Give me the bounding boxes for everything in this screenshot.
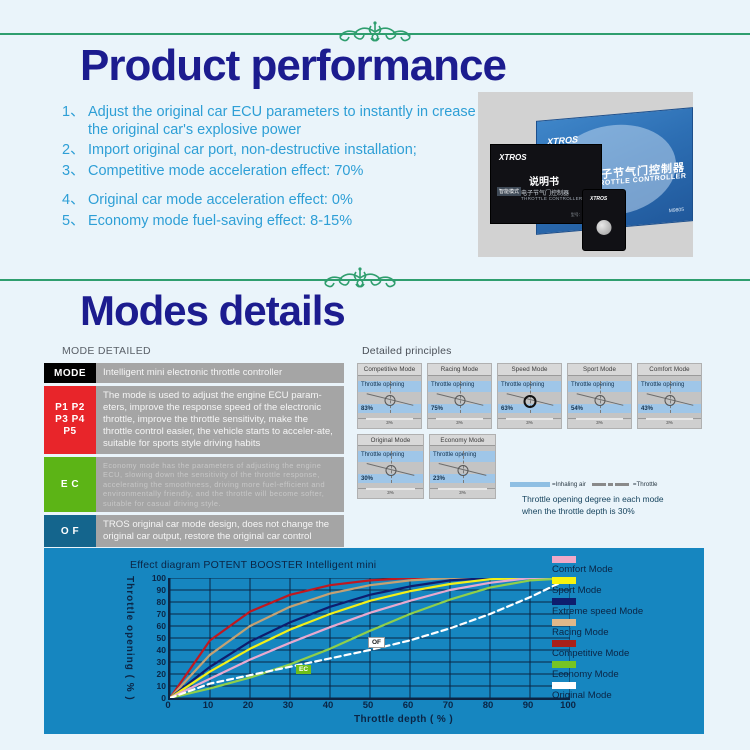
p-line-2: P3 P4 [55,414,85,426]
chart-annotation-of: OF [368,637,385,648]
chart-legend-item: Extreme speed Mode [552,598,702,617]
chart-legend-item: Competitive Mode [552,640,702,659]
mode-card-foot: 3% [358,488,423,498]
throttle-opening-label: Throttle opening [641,382,684,388]
mode-detailed-caption: MODE DETAILED [62,345,151,357]
mode-card-foot-value: 3% [666,420,673,425]
valve-icon [594,395,605,406]
valve-icon [457,465,468,476]
mode-card: Racing Mode Throttle opening 75% 3% [427,363,492,429]
table-row: O F TROS original car mode design, does … [44,515,344,547]
device-brand-label: XTROS [590,196,607,202]
chart-legend-swatch [552,598,576,605]
mode-card-foot-value: 3% [459,490,466,495]
chart-legend-swatch [552,577,576,584]
device-knob-icon [597,220,612,235]
throttle-opening-label: Throttle opening [361,382,404,388]
manual-tag: 智能模式 [497,187,521,196]
product-photo: XTROS 电子节气门控制器 THROTTLE CONTROLLER M9805… [478,92,693,257]
chart-legend-swatch [552,640,576,647]
throttle-legend-label: =Throttle [633,481,658,488]
chart-x-tick: 60 [403,700,414,711]
list-item: 2、 Import original car port, non-destruc… [62,142,482,160]
chart-y-tick: 80 [157,597,166,607]
row-value: TROS original car mode design, does not … [96,515,344,547]
infographic-page: Product performance 1、 Adjust the origin… [0,0,750,750]
mode-card-foot: 3% [498,418,561,428]
row-key-p-modes: P1 P2 P3 P4 P5 [44,386,96,454]
chart-legend-label: Sport Mode [552,585,702,596]
mode-card-foot: 3% [568,418,631,428]
chart-legend-item: Economy Mode [552,661,702,680]
mode-card-percent: 63% [501,406,513,412]
mode-card-foot-value: 3% [387,490,394,495]
chart-x-tick: 70 [443,700,454,711]
chart-y-tick: 90 [157,585,166,595]
p-line-3: P5 [63,426,76,438]
valve-icon [664,395,675,406]
chart-legend-item: Sport Mode [552,577,702,596]
mode-card-title: Original Mode [358,435,423,447]
chart-legend-swatch [552,556,576,563]
throttle-opening-label: Throttle opening [361,452,404,458]
row-value: Economy mode has the parameters of adjus… [96,457,344,512]
row-value: The mode is used to adjust the engine EC… [96,386,344,454]
mode-card-percent: 83% [361,406,373,412]
manual-subtitle-en: THROTTLE CONTROLLER [521,196,582,201]
page-title-modes-details: Modes details [80,287,345,335]
mode-card-foot-value: 3% [456,420,463,425]
mode-card-title: Racing Mode [428,364,491,376]
row-key-of: O F [44,515,96,547]
list-item-number: 3、 [62,163,88,181]
list-item-number: 1、 [62,104,88,139]
principle-caption: Throttle opening degree in each mode whe… [522,493,664,517]
chart-x-tick: 50 [363,700,374,711]
principle-legend-row: =Inhaling air =Throttle [510,481,710,488]
mode-card-body: Throttle opening 63% [498,376,561,418]
mode-card: Economy Mode Throttle opening 23% 3% [429,434,496,500]
throttle-opening-label: Throttle opening [571,382,614,388]
chart-y-tick: 20 [157,669,166,679]
chart-x-tick: 90 [523,700,534,711]
table-row: P1 P2 P3 P4 P5 The mode is used to adjus… [44,386,344,454]
modes-table: MODE Intelligent mini electronic throttl… [44,363,344,550]
chart-legend-swatch [552,661,576,668]
mode-card-title: Speed Mode [498,364,561,376]
throttle-controller-device: XTROS [582,189,626,251]
product-performance-list: 1、 Adjust the original car ECU parameter… [62,104,482,233]
chart-y-ticks: 1009080706050403020100 [140,572,166,704]
list-item-text: Competitive mode acceleration effect: 70… [88,163,482,181]
principle-caption-line-1: Throttle opening degree in each mode [522,493,664,505]
list-item-number: 4、 [62,192,88,210]
list-item-number: 5、 [62,213,88,231]
principle-cards-row-1: Competitive Mode Throttle opening 83% 3%… [357,363,702,429]
mode-card-body: Throttle opening 83% [358,376,421,418]
mode-card-foot: 3% [358,418,421,428]
mode-card-body: Throttle opening 75% [428,376,491,418]
principle-legend: =Inhaling air =Throttle [510,481,710,488]
table-row: E C Economy mode has the parameters of a… [44,457,344,512]
chart-y-tick: 100 [152,573,166,583]
chart-y-tick: 40 [157,645,166,655]
mode-card-foot-value: 3% [386,420,393,425]
mode-card-foot-value: 3% [526,420,533,425]
valve-icon [454,395,465,406]
list-item: 1、 Adjust the original car ECU parameter… [62,104,482,139]
list-item-text: Original car mode acceleration effect: 0… [88,192,482,210]
mode-card-foot: 3% [638,418,701,428]
mode-card-foot: 3% [428,418,491,428]
row-key-ec: E C [44,457,96,512]
mode-card-body: Throttle opening 54% [568,376,631,418]
list-item: 4、 Original car mode acceleration effect… [62,192,482,210]
chart-x-tick: 10 [203,700,214,711]
valve-icon [384,395,395,406]
mode-card: Speed Mode Throttle opening 63% 3% [497,363,562,429]
chart-legend-swatch [552,682,576,689]
chart-legend-item: Racing Mode [552,619,702,638]
mode-card: Comfort Mode Throttle opening 43% 3% [637,363,702,429]
chart-legend: Comfort ModeSport ModeExtreme speed Mode… [552,556,702,703]
chart-legend-label: Economy Mode [552,669,702,680]
mode-card: Original Mode Throttle opening 30% 3% [357,434,424,500]
list-item: 3、 Competitive mode acceleration effect:… [62,163,482,181]
mode-card-foot-value: 3% [596,420,603,425]
row-key-mode: MODE [44,363,96,383]
chart-y-axis-label: Throttle opening ( % ) [124,576,138,716]
principle-cards-row-2: Original Mode Throttle opening 30% 3% Ec… [357,434,702,500]
mode-card-percent: 43% [641,406,653,412]
inhaling-air-swatch [510,482,550,487]
mode-card-title: Comfort Mode [638,364,701,376]
detailed-principles-caption: Detailed principles [362,345,452,357]
list-item-text: Import original car port, non-destructiv… [88,142,482,160]
chart-x-tick: 30 [283,700,294,711]
chart-legend-item: Original Mode [552,682,702,701]
p-line-1: P1 P2 [55,402,85,414]
chart-x-tick: 0 [165,700,170,711]
chart-y-tick: 10 [157,681,166,691]
chart-x-tick: 20 [243,700,254,711]
list-item: 5、 Economy mode fuel-saving effect: 8-15… [62,213,482,231]
mode-card-title: Economy Mode [430,435,495,447]
chart-y-tick: 60 [157,621,166,631]
manual-brand-label: XTROS [499,153,527,162]
table-row: MODE Intelligent mini electronic throttl… [44,363,344,383]
mode-card: Sport Mode Throttle opening 54% 3% [567,363,632,429]
mode-card: Competitive Mode Throttle opening 83% 3% [357,363,422,429]
valve-icon [523,395,536,408]
principle-caption-line-2: when the throttle depth is 30% [522,505,664,517]
mode-card-percent: 75% [431,406,443,412]
chart-title: Effect diagram POTENT BOOSTER Intelligen… [130,559,376,571]
valve-icon [385,465,396,476]
chart-x-tick: 40 [323,700,334,711]
throttle-opening-label: Throttle opening [501,382,544,388]
mode-card-percent: 30% [361,476,373,482]
page-title-product-performance: Product performance [80,41,506,91]
throttle-opening-label: Throttle opening [433,452,476,458]
mode-card-percent: 54% [571,406,583,412]
chart-legend-item: Comfort Mode [552,556,702,575]
chart-y-tick: 50 [157,633,166,643]
chart-legend-label: Competitive Mode [552,648,702,659]
inhaling-air-label: =Inhaling air [552,481,586,488]
chart-legend-label: Racing Mode [552,627,702,638]
chart-y-tick: 30 [157,657,166,667]
box-model-label: M9805 [669,207,684,214]
list-item-text: Adjust the original car ECU parameters t… [88,104,482,139]
chart-legend-label: Comfort Mode [552,564,702,575]
mode-card-percent: 23% [433,476,445,482]
mode-card-title: Sport Mode [568,364,631,376]
throttle-opening-label: Throttle opening [431,382,474,388]
chart-annotation-ec: EC [296,665,311,674]
mode-card-body: Throttle opening 30% [358,446,423,488]
throttle-dash-swatch [592,483,631,486]
chart-x-axis-label: Throttle depth ( % ) [354,714,453,725]
mode-card-body: Throttle opening 43% [638,376,701,418]
chart-legend-swatch [552,619,576,626]
chart-y-tick: 70 [157,609,166,619]
list-item-text: Economy mode fuel-saving effect: 8-15% [88,213,482,231]
mode-card-title: Competitive Mode [358,364,421,376]
row-value: Intelligent mini electronic throttle con… [96,363,344,383]
mode-card-body: Throttle opening 23% [430,446,495,488]
effect-diagram-chart: Effect diagram POTENT BOOSTER Intelligen… [44,548,704,734]
mode-card-foot: 3% [430,488,495,498]
chart-x-tick: 80 [483,700,494,711]
chart-legend-label: Extreme speed Mode [552,606,702,617]
manual-title: 说明书 [529,173,559,188]
chart-legend-label: Original Mode [552,690,702,701]
list-item-number: 2、 [62,142,88,160]
